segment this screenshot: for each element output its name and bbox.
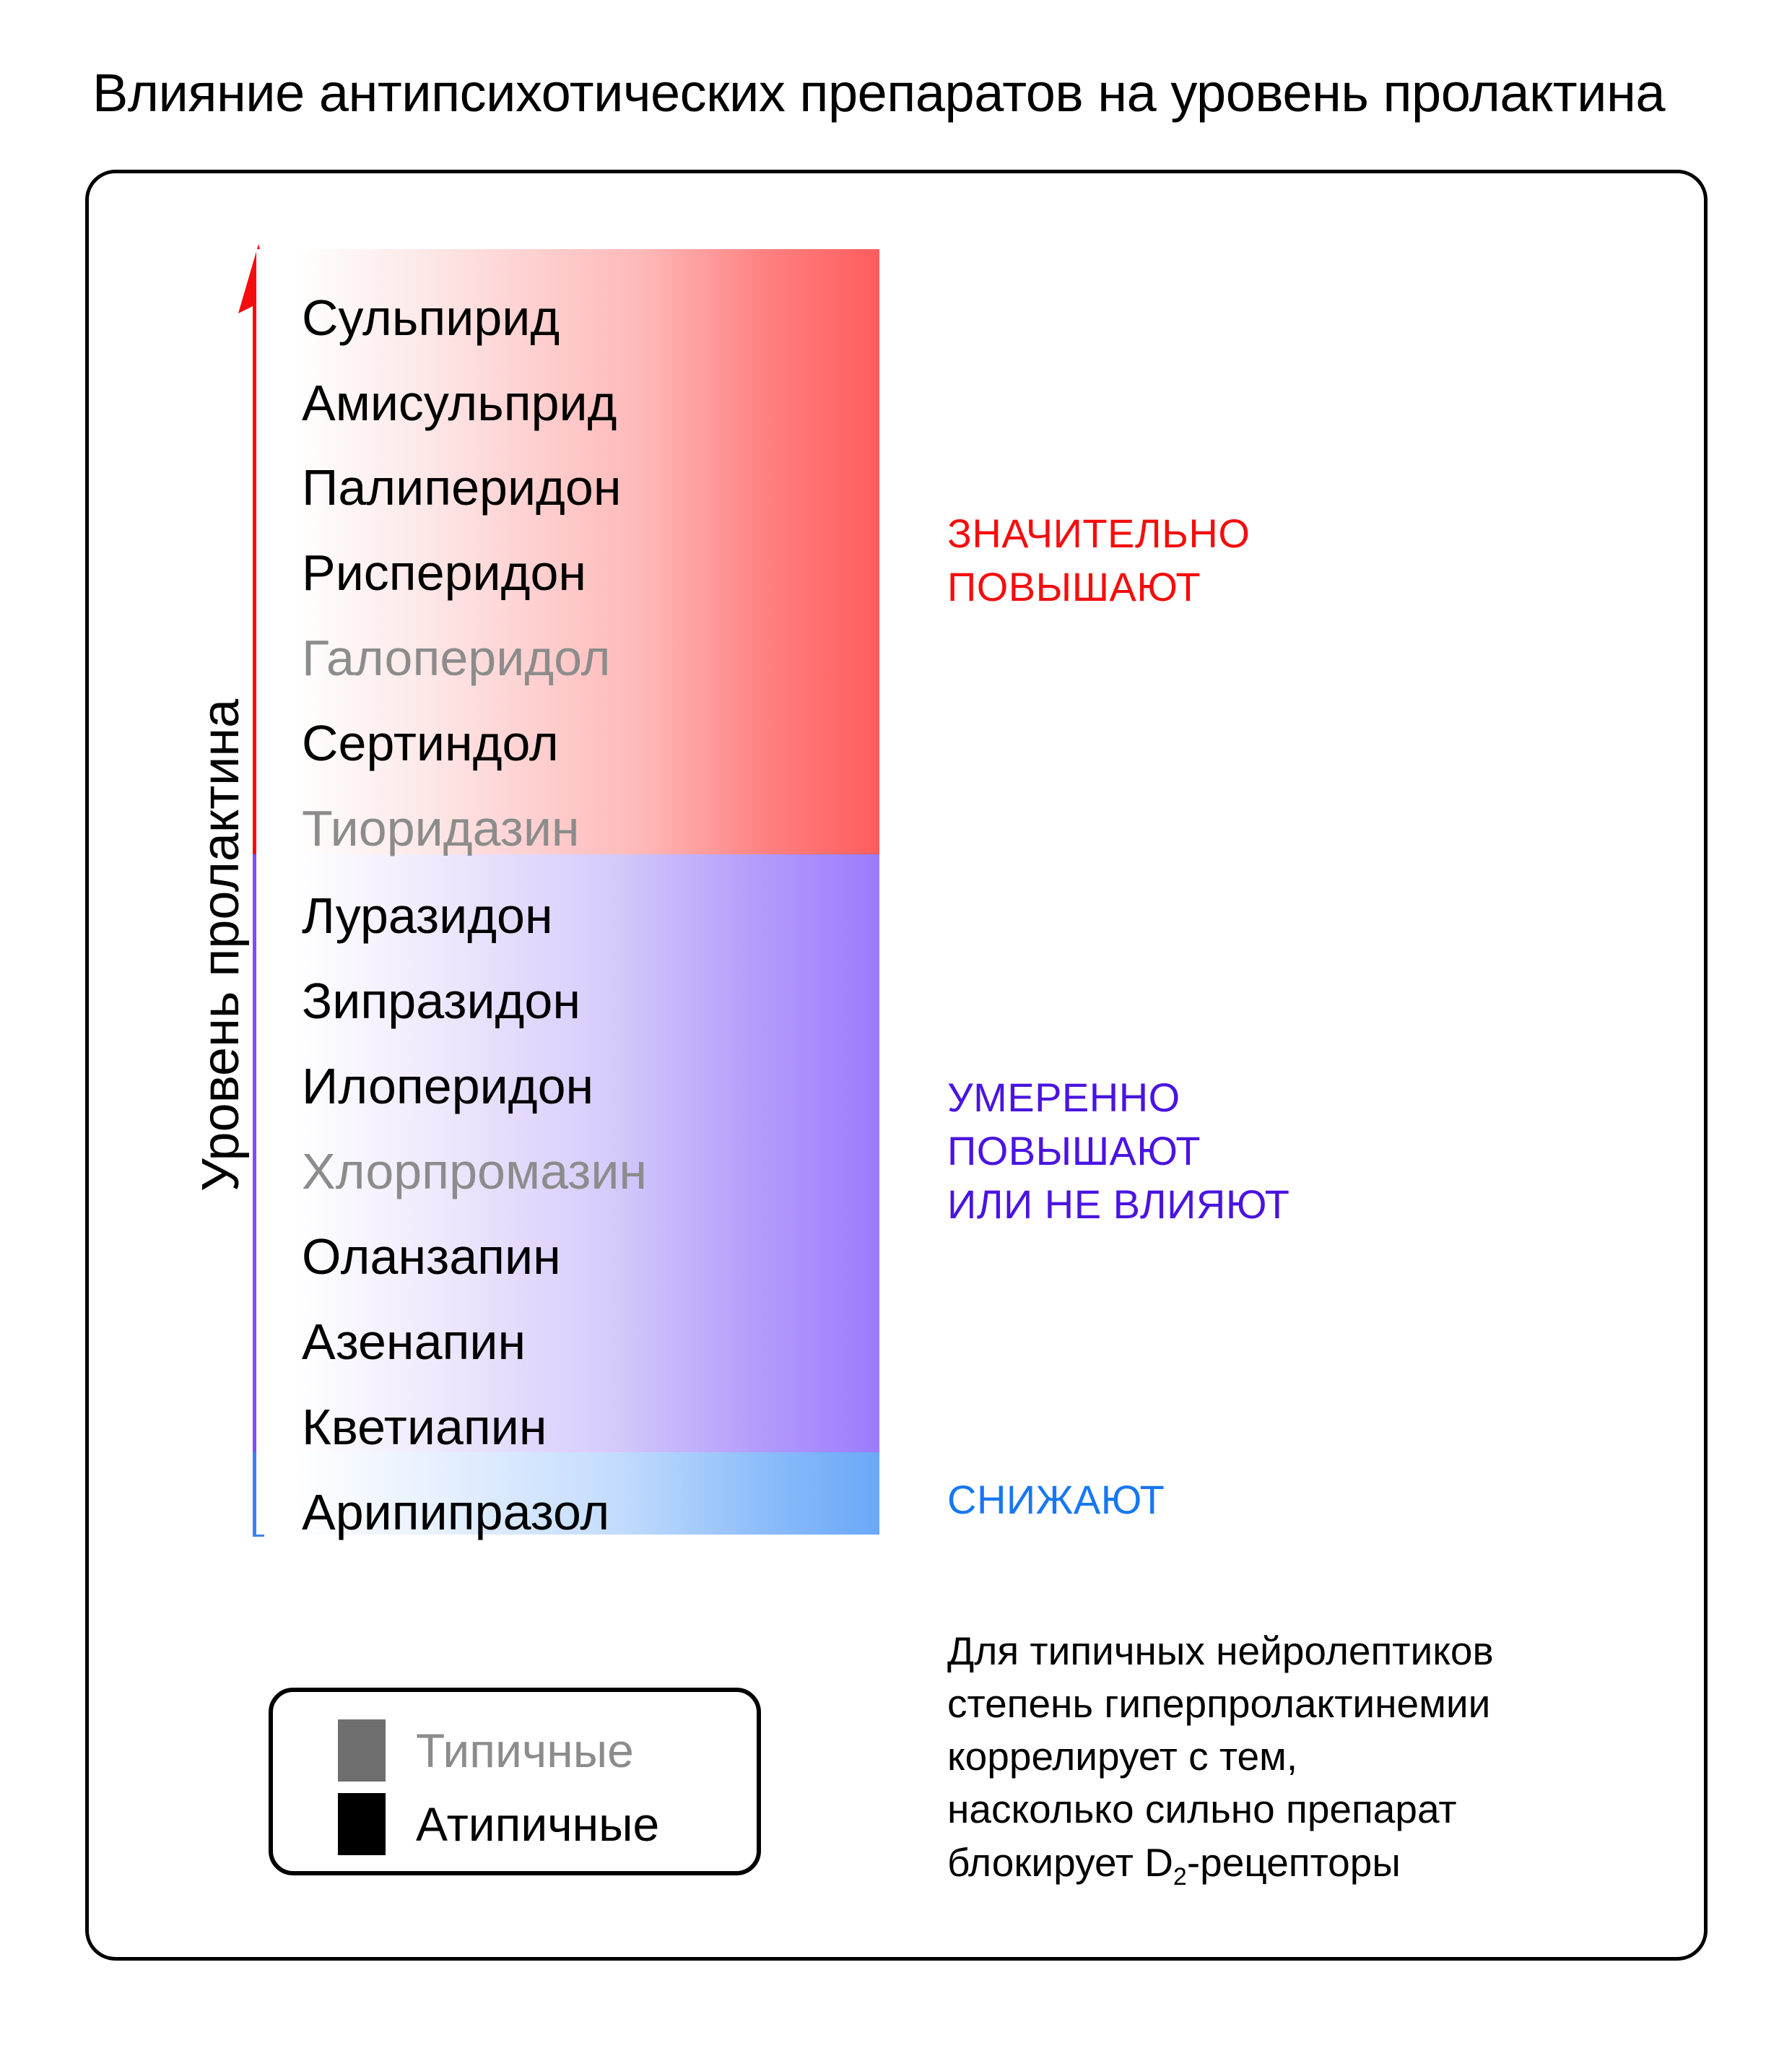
drug-item: Тиоридазин [302, 803, 580, 854]
footnote-text: Для типичных нейролептиков степень гипер… [947, 1625, 1597, 1889]
drug-item: Кветиапин [302, 1402, 547, 1452]
drug-item: Амисульприд [302, 378, 617, 428]
legend-label-typical: Типичные [416, 1727, 634, 1774]
drug-item: Рисперидон [302, 547, 586, 598]
legend-item-typical: Типичные [338, 1719, 634, 1782]
legend-swatch-atypical-icon [338, 1793, 386, 1855]
legend-box: Типичные Атипичные [269, 1688, 761, 1875]
drug-item: Азенапин [302, 1316, 526, 1367]
category-label-decrease: СНИЖАЮТ [947, 1473, 1165, 1527]
drug-item: Оланзапин [302, 1231, 561, 1282]
drug-item: Зипразидон [302, 976, 580, 1026]
drug-item: Сульпирид [302, 292, 560, 343]
legend-swatch-typical-icon [338, 1719, 386, 1782]
drug-item: Палиперидон [302, 462, 622, 513]
drug-item: Сертиндол [302, 718, 559, 768]
footnote-tail: -рецепторы [1187, 1840, 1401, 1885]
drug-item: Арипипразол [302, 1487, 609, 1537]
category-label-significant-increase: ЗНАЧИТЕЛЬНО ПОВЫШАЮТ [947, 507, 1250, 614]
drug-item: Хлорпромазин [302, 1146, 647, 1197]
footnote-subscript: 2 [1173, 1863, 1187, 1891]
page-title: Влияние антипсихотических препаратов на … [92, 64, 1665, 122]
drug-item: Луразидон [302, 890, 553, 941]
drug-item: Галоперидол [302, 633, 610, 683]
legend-label-atypical: Атипичные [416, 1800, 659, 1848]
category-label-moderate-or-no-effect: УМЕРЕННО ПОВЫШАЮТ ИЛИ НЕ ВЛИЯЮТ [947, 1071, 1289, 1231]
legend-item-atypical: Атипичные [338, 1793, 659, 1855]
drug-item: Илоперидон [302, 1061, 593, 1111]
